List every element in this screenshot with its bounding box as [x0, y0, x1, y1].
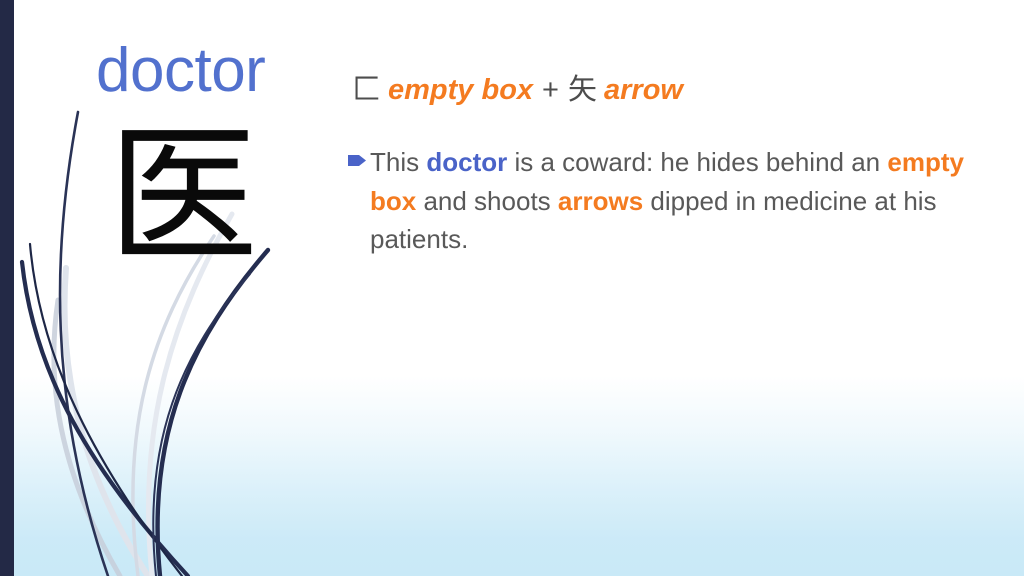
body-highlight-5: arrows	[558, 186, 643, 216]
body-highlight-1: doctor	[426, 147, 507, 177]
radical-1-gloss: empty box	[388, 74, 533, 106]
arrow-bullet-icon	[348, 154, 367, 172]
bottom-gradient-wash	[0, 376, 1024, 576]
radical-2-gloss: arrow	[604, 74, 683, 106]
radical-1-glyph: 匚	[352, 72, 381, 106]
radical-2-glyph: 矢	[568, 72, 597, 106]
left-navy-band	[0, 0, 14, 576]
body-span-2: is a coward: he hides behind an	[507, 147, 887, 177]
body-bullet-block: This doctor is a coward: he hides behind…	[348, 143, 998, 259]
bullet-row: This doctor is a coward: he hides behind…	[348, 143, 998, 259]
body-span-4: and shoots	[416, 186, 558, 216]
slide-canvas: doctor 匚empty box+矢arrow 医 This doctor i…	[0, 0, 1024, 576]
radical-operator: +	[542, 74, 559, 106]
kanji-character: 医	[108, 122, 258, 272]
page-title: doctor	[96, 40, 265, 102]
body-paragraph: This doctor is a coward: he hides behind…	[370, 143, 998, 259]
radical-breakdown: 匚empty box+矢arrow	[352, 74, 683, 107]
body-span-0: This	[370, 147, 426, 177]
